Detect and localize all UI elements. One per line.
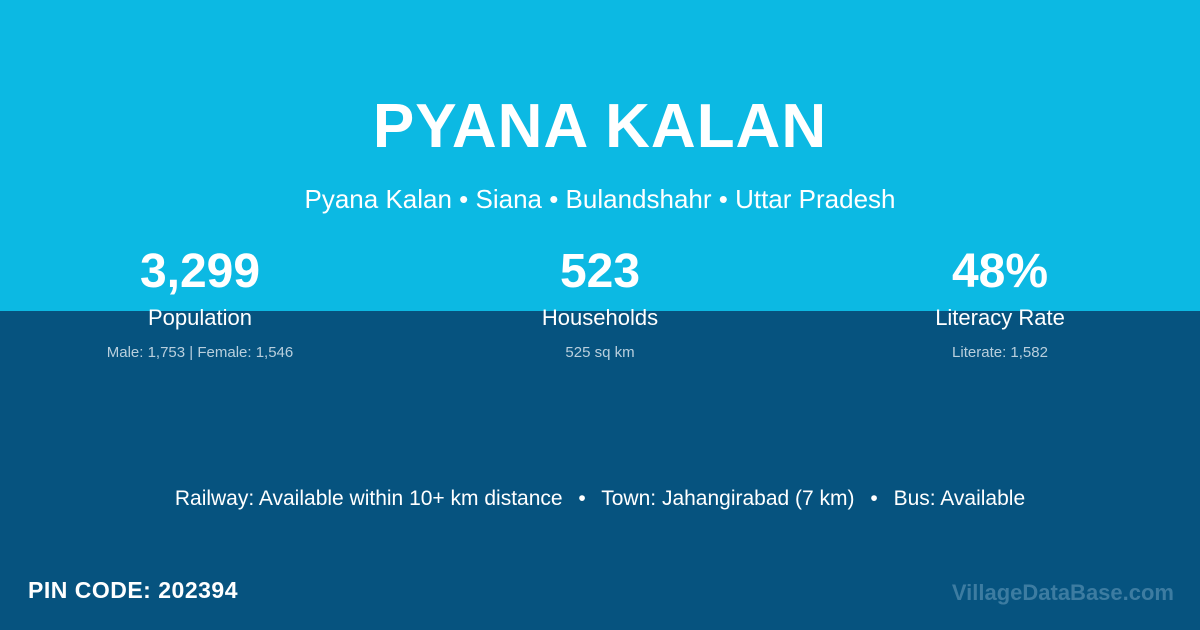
stat-label: Population [0,303,400,333]
facility-town: Town: Jahangirabad (7 km) [601,487,854,510]
facility-bus: Bus: Available [894,487,1026,510]
stat-households: 523 Households 525 sq km [400,243,800,364]
pin-code: PIN CODE: 202394 [28,575,238,605]
facility-separator: • [860,487,887,510]
stat-population: 3,299 Population Male: 1,753 | Female: 1… [0,243,400,364]
stats-row: 3,299 Population Male: 1,753 | Female: 1… [0,243,1200,364]
stat-subtext: Male: 1,753 | Female: 1,546 [0,342,400,364]
breadcrumb: Pyana Kalan • Siana • Bulandshahr • Utta… [0,182,1200,216]
facility-separator: • [568,487,595,510]
facilities-line: Railway: Available within 10+ km distanc… [0,484,1200,514]
stat-label: Households [400,303,800,333]
stat-value: 523 [400,243,800,301]
stat-literacy-rate: 48% Literacy Rate Literate: 1,582 [800,243,1200,364]
stat-label: Literacy Rate [800,303,1200,333]
site-brand: VillageDataBase.com [952,578,1174,608]
facility-railway: Railway: Available within 10+ km distanc… [175,487,563,510]
stat-value: 48% [800,243,1200,301]
stat-subtext: Literate: 1,582 [800,342,1200,364]
stat-subtext: 525 sq km [400,342,800,364]
page-title: PYANA KALAN [0,88,1200,166]
stat-value: 3,299 [0,243,400,301]
